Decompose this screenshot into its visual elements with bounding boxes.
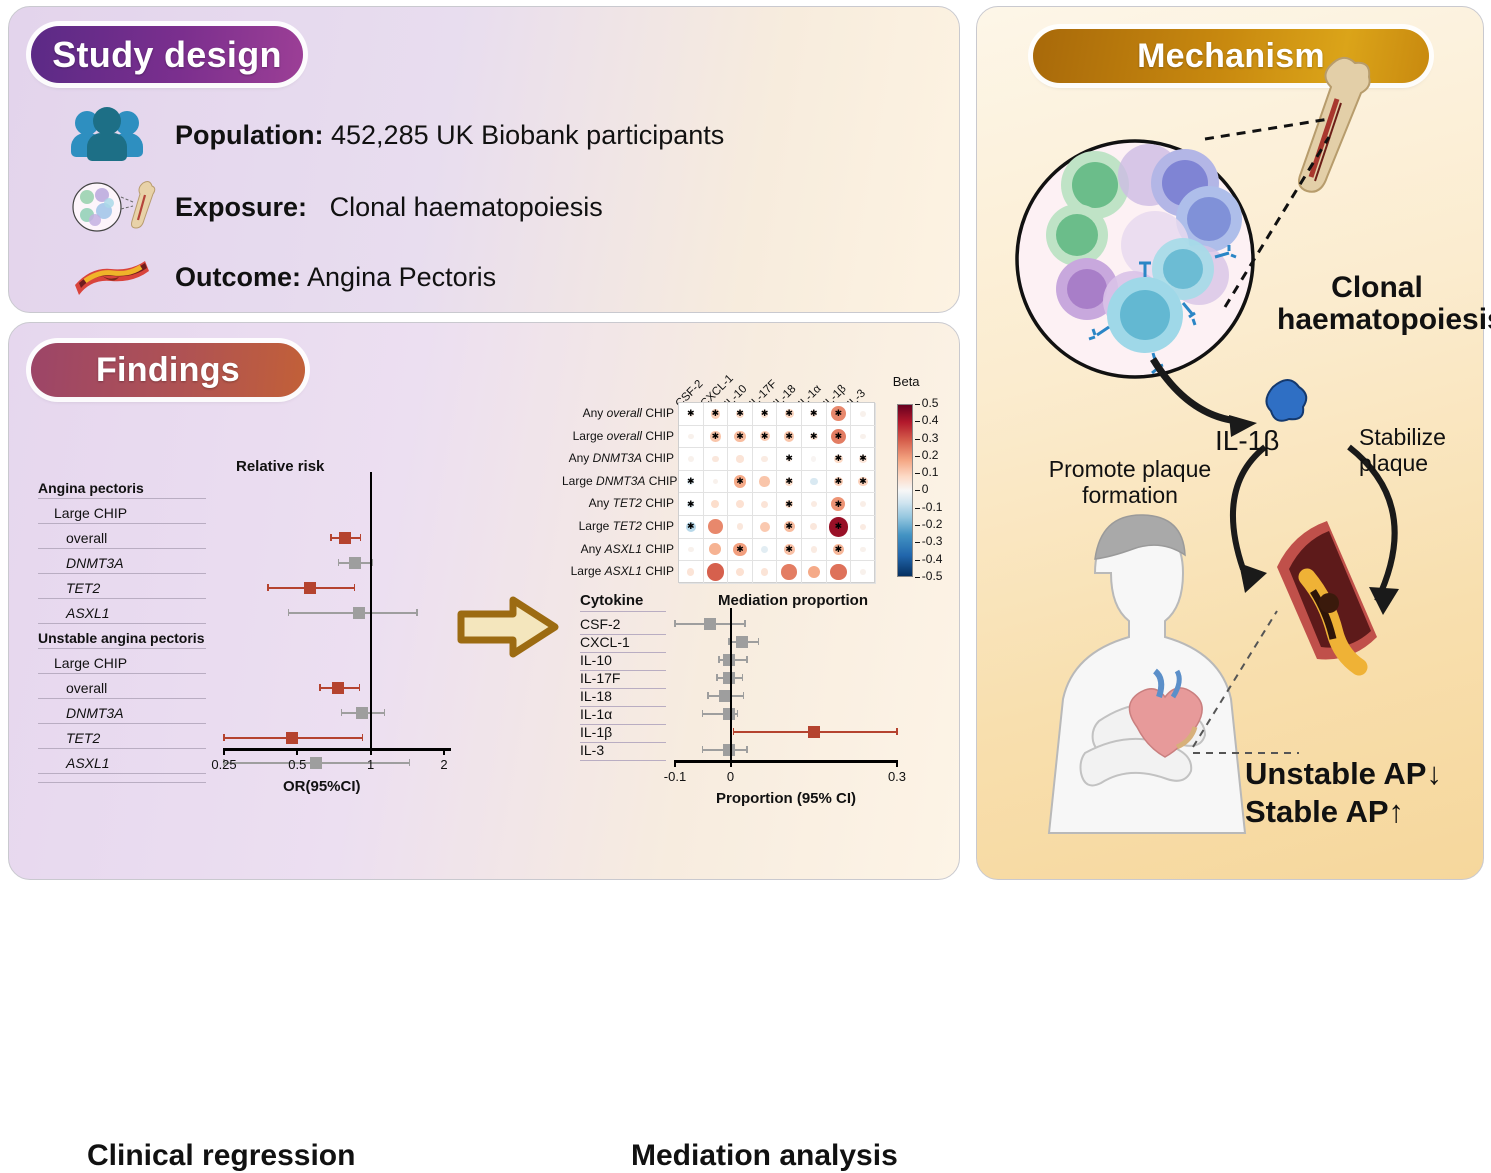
study-row-text: Exposure: Clonal haematopoiesis bbox=[175, 192, 603, 223]
mediation-row-label: IL-1α bbox=[580, 706, 612, 722]
forest-row-label: TET2 bbox=[66, 730, 100, 746]
heatmap-cell: ✱ bbox=[777, 539, 802, 562]
cytokine-heatmap: CSF-2CXCL-1IL-10IL-17FIL-18IL-1αIL-1βIL-… bbox=[560, 358, 950, 590]
mediation-title: Mediation proportion bbox=[718, 592, 868, 609]
heatmap-row-label: Large ASXL1 CHIP bbox=[562, 564, 674, 578]
findings-title: Findings bbox=[31, 343, 305, 397]
heatmap-dot bbox=[761, 568, 768, 575]
mediation-ci-cap bbox=[716, 674, 718, 681]
forest-ci-cap bbox=[267, 584, 269, 591]
heatmap-dot bbox=[736, 568, 744, 576]
colorbar-tick-label: -0.2 bbox=[922, 517, 943, 531]
heatmap-dot bbox=[736, 500, 744, 508]
colorbar-tick bbox=[915, 404, 920, 405]
mediation-ci-cap bbox=[742, 674, 744, 681]
mediation-tick bbox=[730, 760, 732, 767]
right-arrow-icon bbox=[455, 590, 565, 665]
heatmap-dot: ✱ bbox=[831, 497, 845, 511]
heatmap-dot: ✱ bbox=[710, 431, 720, 441]
forest-row-label: DNMT3A bbox=[66, 555, 124, 571]
heatmap-cell bbox=[728, 561, 753, 584]
heatmap-dot bbox=[737, 523, 744, 530]
heatmap-cell: ✱ bbox=[802, 403, 827, 426]
significance-star: ✱ bbox=[712, 432, 720, 441]
heatmap-dot: ✱ bbox=[733, 543, 746, 556]
promote-plaque-label: Promote plaque formation bbox=[1025, 457, 1235, 509]
heatmap-dot bbox=[811, 456, 816, 461]
forest-rule bbox=[38, 523, 206, 524]
heatmap-cell: ✱ bbox=[679, 516, 704, 539]
heatmap-dot: ✱ bbox=[686, 522, 696, 532]
significance-star: ✱ bbox=[835, 545, 843, 554]
heatmap-dot bbox=[810, 478, 818, 486]
forest-tick-label: 1 bbox=[358, 757, 384, 772]
heatmap-dot: ✱ bbox=[859, 455, 866, 462]
heatmap-dot: ✱ bbox=[736, 410, 744, 418]
mediation-ci-cap bbox=[707, 692, 709, 699]
heatmap-cell: ✱ bbox=[777, 471, 802, 494]
heatmap-dot: ✱ bbox=[784, 431, 794, 441]
study-row-value: 452,285 UK Biobank participants bbox=[331, 120, 724, 150]
heatmap-cell bbox=[851, 561, 876, 584]
mechanism-panel: Mechanism bbox=[976, 6, 1484, 880]
heatmap-dot: ✱ bbox=[834, 477, 844, 487]
significance-star: ✱ bbox=[810, 409, 818, 418]
mediation-row-label: CSF-2 bbox=[580, 616, 620, 632]
forest-marker bbox=[353, 607, 365, 619]
forest-rule bbox=[38, 748, 206, 749]
mediation-marker bbox=[704, 618, 716, 630]
forest-group-heading: Unstable angina pectoris bbox=[38, 630, 204, 646]
forest-marker bbox=[339, 532, 351, 544]
significance-star: ✱ bbox=[687, 477, 695, 486]
heatmap-cell bbox=[802, 493, 827, 516]
heatmap-dot: ✱ bbox=[688, 411, 695, 418]
significance-star: ✱ bbox=[785, 432, 793, 441]
study-row-value: Angina Pectoris bbox=[307, 262, 496, 292]
forest-subheading: Large CHIP bbox=[54, 505, 127, 521]
forest-tick bbox=[223, 748, 225, 755]
forest-rule bbox=[38, 548, 206, 549]
heatmap-dot bbox=[707, 563, 725, 581]
mediation-row-label: IL-17F bbox=[580, 670, 620, 686]
heatmap-row-label: Large overall CHIP bbox=[562, 429, 674, 443]
mediation-tick-label: 0.3 bbox=[882, 769, 912, 784]
forest-ci-cap bbox=[354, 584, 356, 591]
colorbar-tick bbox=[915, 542, 920, 543]
people-icon bbox=[71, 103, 157, 167]
mediation-ci-cap bbox=[674, 620, 676, 627]
heatmap-cell bbox=[777, 561, 802, 584]
colorbar-tick-label: 0.1 bbox=[922, 465, 939, 479]
heatmap-cell bbox=[851, 426, 876, 449]
forest-row-label: DNMT3A bbox=[66, 705, 124, 721]
mediation-ci-cap bbox=[746, 656, 748, 663]
forest-axis bbox=[223, 748, 451, 751]
heatmap-cell: ✱ bbox=[827, 493, 852, 516]
heatmap-row-label: Any TET2 CHIP bbox=[562, 496, 674, 510]
unstable-ap-label: Unstable AP↓ bbox=[1245, 755, 1442, 793]
heatmap-cell bbox=[802, 448, 827, 471]
colorbar-tick bbox=[915, 560, 920, 561]
forest-ci-cap bbox=[362, 734, 364, 741]
heatmap-grid: ✱✱✱✱✱✱✱✱✱✱✱✱✱✱✱✱✱✱✱✱✱✱✱✱✱✱✱✱✱✱ bbox=[678, 402, 875, 583]
heatmap-cell: ✱ bbox=[704, 426, 729, 449]
forest-plot-clinical-regression: Relative riskAngina pectorisLarge CHIPov… bbox=[28, 458, 448, 803]
forest-row-label: overall bbox=[66, 680, 107, 696]
colorbar-tick bbox=[915, 456, 920, 457]
heatmap-cell bbox=[802, 516, 827, 539]
heatmap-cell bbox=[704, 493, 729, 516]
heatmap-dot: ✱ bbox=[687, 478, 694, 485]
mediation-marker bbox=[808, 726, 820, 738]
colorbar-tick bbox=[915, 508, 920, 509]
heatmap-dot: ✱ bbox=[785, 478, 793, 486]
heatmap-dot: ✱ bbox=[734, 431, 745, 442]
colorbar-tick-label: 0.4 bbox=[922, 413, 939, 427]
heatmap-cell bbox=[802, 471, 827, 494]
heatmap-dot: ✱ bbox=[833, 544, 844, 555]
colorbar-tick-label: 0 bbox=[922, 482, 929, 496]
heatmap-dot bbox=[761, 501, 768, 508]
study-design-panel: Study design Population: 452,285 UK Biob… bbox=[8, 6, 960, 313]
heatmap-cell bbox=[851, 493, 876, 516]
heatmap-cell bbox=[753, 448, 778, 471]
mediation-tick-label: 0 bbox=[716, 769, 746, 784]
heatmap-cell bbox=[728, 493, 753, 516]
heatmap-colorbar bbox=[897, 404, 913, 577]
heatmap-cell bbox=[753, 539, 778, 562]
study-row-label: Outcome: bbox=[175, 262, 301, 292]
forest-ci-cap bbox=[338, 559, 340, 566]
heatmap-dot bbox=[687, 568, 694, 575]
clonal-haematopoiesis-label: Clonal haematopoiesis bbox=[1277, 272, 1477, 336]
forest-row-label: overall bbox=[66, 530, 107, 546]
colorbar-tick bbox=[915, 473, 920, 474]
significance-star: ✱ bbox=[736, 477, 744, 486]
heatmap-cell: ✱ bbox=[851, 471, 876, 494]
forest-ci-cap bbox=[384, 709, 386, 716]
heatmap-dot: ✱ bbox=[785, 500, 793, 508]
significance-star: ✱ bbox=[835, 409, 843, 418]
mediation-tick-label: -0.1 bbox=[660, 769, 690, 784]
significance-star: ✱ bbox=[736, 545, 744, 554]
forest-rule bbox=[38, 623, 206, 624]
mediation-tick bbox=[674, 760, 676, 767]
heatmap-dot: ✱ bbox=[858, 477, 867, 486]
significance-star: ✱ bbox=[736, 432, 744, 441]
mediation-ci-cap bbox=[718, 656, 720, 663]
mediation-ci-cap bbox=[744, 620, 746, 627]
heatmap-cell: ✱ bbox=[851, 448, 876, 471]
mediation-tick bbox=[896, 760, 898, 767]
stable-ap-label: Stable AP↑ bbox=[1245, 793, 1442, 831]
heatmap-dot bbox=[860, 547, 866, 553]
heatmap-cell: ✱ bbox=[728, 471, 753, 494]
heatmap-dot: ✱ bbox=[734, 475, 747, 488]
heatmap-cell bbox=[679, 561, 704, 584]
forest-row-label: ASXL1 bbox=[66, 605, 110, 621]
mediation-xlabel: Proportion (95% CI) bbox=[716, 790, 856, 807]
heatmap-dot bbox=[860, 524, 867, 531]
study-row-outcome: Outcome: Angina Pectoris bbox=[71, 245, 496, 309]
heatmap-row-label: Any ASXL1 CHIP bbox=[562, 542, 674, 556]
heatmap-dot bbox=[759, 476, 769, 486]
heatmap-dot: ✱ bbox=[810, 410, 817, 417]
heatmap-cell: ✱ bbox=[728, 403, 753, 426]
mediation-ci-cap bbox=[737, 710, 739, 717]
mediation-rule bbox=[580, 760, 666, 761]
colorbar-tick bbox=[915, 421, 920, 422]
forest-ci-cap bbox=[360, 534, 362, 541]
heatmap-cell: ✱ bbox=[777, 426, 802, 449]
heatmap-cell: ✱ bbox=[777, 448, 802, 471]
significance-star: ✱ bbox=[785, 477, 793, 486]
heatmap-dot: ✱ bbox=[761, 410, 769, 418]
heatmap-dot bbox=[811, 546, 818, 553]
significance-star: ✱ bbox=[859, 454, 867, 463]
significance-star: ✱ bbox=[785, 454, 793, 463]
colorbar-tick bbox=[915, 439, 920, 440]
plaque-artery-icon bbox=[71, 245, 157, 309]
heatmap-cell: ✱ bbox=[827, 539, 852, 562]
cells-bone-icon bbox=[71, 175, 157, 239]
heatmap-cell: ✱ bbox=[777, 493, 802, 516]
significance-star: ✱ bbox=[785, 545, 793, 554]
forest-rule bbox=[38, 723, 206, 724]
heatmap-dot bbox=[781, 564, 797, 580]
heatmap-cell: ✱ bbox=[827, 448, 852, 471]
mediation-marker bbox=[736, 636, 748, 648]
colorbar-tick-label: 0.2 bbox=[922, 448, 939, 462]
heatmap-dot: ✱ bbox=[785, 409, 794, 418]
significance-star: ✱ bbox=[687, 522, 695, 531]
heatmap-cell: ✱ bbox=[679, 471, 704, 494]
significance-star: ✱ bbox=[810, 432, 818, 441]
study-design-title: Study design bbox=[31, 26, 303, 83]
relative-risk-title: Relative risk bbox=[236, 458, 324, 475]
forest-ci-cap bbox=[288, 609, 290, 616]
mediation-row-label: IL-10 bbox=[580, 652, 612, 668]
heatmap-cell bbox=[802, 539, 827, 562]
heatmap-cell bbox=[851, 516, 876, 539]
forest-rule bbox=[38, 773, 206, 774]
forest-ci-cap bbox=[359, 684, 361, 691]
heatmap-cell: ✱ bbox=[827, 426, 852, 449]
heatmap-row-label: Large TET2 CHIP bbox=[562, 519, 674, 533]
heatmap-dot bbox=[712, 456, 719, 463]
heatmap-cell: ✱ bbox=[753, 426, 778, 449]
forest-xlabel: OR(95%CI) bbox=[283, 778, 361, 795]
mediation-row-label: CXCL-1 bbox=[580, 634, 630, 650]
significance-star: ✱ bbox=[835, 454, 843, 463]
heatmap-dot bbox=[761, 546, 768, 553]
heatmap-cell bbox=[679, 539, 704, 562]
heatmap-dot bbox=[830, 564, 846, 580]
study-row-value: Clonal haematopoiesis bbox=[330, 192, 603, 222]
forest-rule bbox=[38, 673, 206, 674]
significance-star: ✱ bbox=[835, 522, 843, 531]
study-row-exposure: Exposure: Clonal haematopoiesis bbox=[71, 175, 603, 239]
heatmap-dot bbox=[688, 434, 694, 440]
significance-star: ✱ bbox=[761, 409, 769, 418]
cytokine-column-header: Cytokine bbox=[580, 592, 643, 609]
significance-star: ✱ bbox=[785, 409, 793, 418]
forest-marker bbox=[356, 707, 368, 719]
heatmap-cell: ✱ bbox=[777, 516, 802, 539]
significance-star: ✱ bbox=[712, 409, 720, 418]
heatmap-cell bbox=[753, 471, 778, 494]
heatmap-cell bbox=[753, 561, 778, 584]
colorbar-tick bbox=[915, 490, 920, 491]
mediation-row-label: IL-1β bbox=[580, 724, 612, 740]
significance-star: ✱ bbox=[687, 409, 695, 418]
heatmap-cell: ✱ bbox=[753, 403, 778, 426]
colorbar-tick-label: 0.5 bbox=[922, 396, 939, 410]
significance-star: ✱ bbox=[687, 500, 695, 509]
colorbar-tick-label: -0.1 bbox=[922, 500, 943, 514]
heatmap-dot: ✱ bbox=[829, 517, 849, 537]
forest-tick-label: 0.25 bbox=[211, 757, 237, 772]
heatmap-row-label: Any overall CHIP bbox=[562, 406, 674, 420]
heatmap-dot bbox=[860, 434, 866, 440]
heatmap-dot: ✱ bbox=[711, 409, 721, 419]
colorbar-tick bbox=[915, 525, 920, 526]
heatmap-cell bbox=[802, 561, 827, 584]
heatmap-row-label: Large DNMT3A CHIP bbox=[562, 474, 674, 488]
forest-ci-cap bbox=[341, 709, 343, 716]
heatmap-dot bbox=[688, 456, 694, 462]
forest-tick bbox=[370, 748, 372, 755]
forest-ci-cap bbox=[223, 734, 225, 741]
significance-star: ✱ bbox=[785, 500, 793, 509]
forest-rule bbox=[38, 782, 206, 783]
heatmap-row-label: Any DNMT3A CHIP bbox=[562, 451, 674, 465]
heatmap-cell bbox=[704, 471, 729, 494]
forest-marker bbox=[310, 757, 322, 769]
significance-star: ✱ bbox=[736, 409, 744, 418]
heatmap-dot bbox=[860, 569, 866, 575]
forest-tick bbox=[443, 748, 445, 755]
forest-marker bbox=[332, 682, 344, 694]
il1b-label: IL-1β bbox=[1215, 425, 1279, 457]
heatmap-cell bbox=[704, 561, 729, 584]
heatmap-cell: ✱ bbox=[777, 403, 802, 426]
mediation-ci-cap bbox=[743, 692, 745, 699]
forest-marker bbox=[286, 732, 298, 744]
mediation-rule bbox=[580, 611, 666, 612]
mediation-ci-cap bbox=[733, 728, 735, 735]
heatmap-dot bbox=[860, 411, 866, 417]
heatmap-dot bbox=[711, 500, 719, 508]
heatmap-dot bbox=[760, 522, 770, 532]
heatmap-dot: ✱ bbox=[784, 544, 795, 555]
mediation-ci-cap bbox=[702, 710, 704, 717]
forest-marker bbox=[349, 557, 361, 569]
forest-rule bbox=[38, 698, 206, 699]
study-row-text: Population: 452,285 UK Biobank participa… bbox=[175, 120, 724, 151]
heatmap-cell bbox=[851, 403, 876, 426]
clinical-regression-caption: Clinical regression bbox=[87, 1139, 355, 1173]
forest-tick-label: 0.5 bbox=[284, 757, 310, 772]
heatmap-dot bbox=[808, 566, 821, 579]
study-row-label: Exposure: bbox=[175, 192, 307, 222]
study-row-text: Outcome: Angina Pectoris bbox=[175, 262, 496, 293]
heatmap-cell bbox=[679, 448, 704, 471]
forest-tick-label: 2 bbox=[431, 757, 457, 772]
heatmap-cell: ✱ bbox=[827, 471, 852, 494]
heatmap-cell bbox=[679, 426, 704, 449]
heatmap-cell bbox=[827, 561, 852, 584]
heatmap-dot: ✱ bbox=[810, 433, 818, 441]
colorbar-tick-label: -0.4 bbox=[922, 552, 943, 566]
heatmap-dot: ✱ bbox=[786, 456, 793, 463]
forest-tick bbox=[296, 748, 298, 755]
colorbar-tick-label: -0.3 bbox=[922, 534, 943, 548]
heatmap-legend-title: Beta bbox=[893, 374, 920, 389]
heatmap-dot bbox=[811, 501, 818, 508]
heatmap-cell: ✱ bbox=[827, 403, 852, 426]
forest-rule bbox=[38, 648, 206, 649]
heatmap-cell: ✱ bbox=[679, 403, 704, 426]
forest-rule bbox=[38, 498, 206, 499]
significance-star: ✱ bbox=[761, 432, 769, 441]
mediation-row-label: IL-18 bbox=[580, 688, 612, 704]
mediation-reference-line bbox=[730, 608, 733, 760]
heatmap-cell bbox=[704, 516, 729, 539]
study-row-label: Population: bbox=[175, 120, 323, 150]
heatmap-dot bbox=[713, 479, 719, 485]
heatmap-cell bbox=[704, 539, 729, 562]
colorbar-tick-label: 0.3 bbox=[922, 431, 939, 445]
forest-rule bbox=[38, 573, 206, 574]
heatmap-cell: ✱ bbox=[827, 516, 852, 539]
forest-ci-cap bbox=[319, 684, 321, 691]
mediation-row-label: IL-3 bbox=[580, 742, 604, 758]
heatmap-dot: ✱ bbox=[831, 429, 847, 445]
study-row-population: Population: 452,285 UK Biobank participa… bbox=[71, 103, 724, 167]
heatmap-cell bbox=[753, 493, 778, 516]
heatmap-cell: ✱ bbox=[802, 426, 827, 449]
heatmap-dot bbox=[810, 523, 817, 530]
mediation-ci-cap bbox=[702, 746, 704, 753]
mediation-axis bbox=[674, 760, 896, 763]
mediation-analysis-caption: Mediation analysis bbox=[631, 1139, 898, 1173]
heatmap-dot bbox=[688, 547, 694, 553]
heatmap-dot bbox=[709, 543, 721, 555]
heatmap-dot: ✱ bbox=[831, 406, 846, 421]
significance-star: ✱ bbox=[859, 477, 867, 486]
colorbar-tick-label: -0.5 bbox=[922, 569, 943, 583]
forest-reference-line bbox=[370, 472, 372, 748]
significance-star: ✱ bbox=[835, 477, 843, 486]
heatmap-cell bbox=[753, 516, 778, 539]
significance-star: ✱ bbox=[785, 522, 793, 531]
forest-ci-cap bbox=[372, 559, 374, 566]
forest-group-heading: Angina pectoris bbox=[38, 480, 144, 496]
heatmap-dot bbox=[708, 519, 723, 534]
mediation-ci-cap bbox=[896, 728, 898, 735]
heatmap-dot: ✱ bbox=[834, 455, 842, 463]
heatmap-cell bbox=[728, 516, 753, 539]
forest-subheading: Large CHIP bbox=[54, 655, 127, 671]
significance-star: ✱ bbox=[835, 500, 843, 509]
heatmap-dot: ✱ bbox=[784, 521, 795, 532]
heatmap-cell bbox=[851, 539, 876, 562]
heatmap-dot bbox=[860, 501, 866, 507]
forest-row-label: TET2 bbox=[66, 580, 100, 596]
heatmap-dot: ✱ bbox=[760, 431, 770, 441]
